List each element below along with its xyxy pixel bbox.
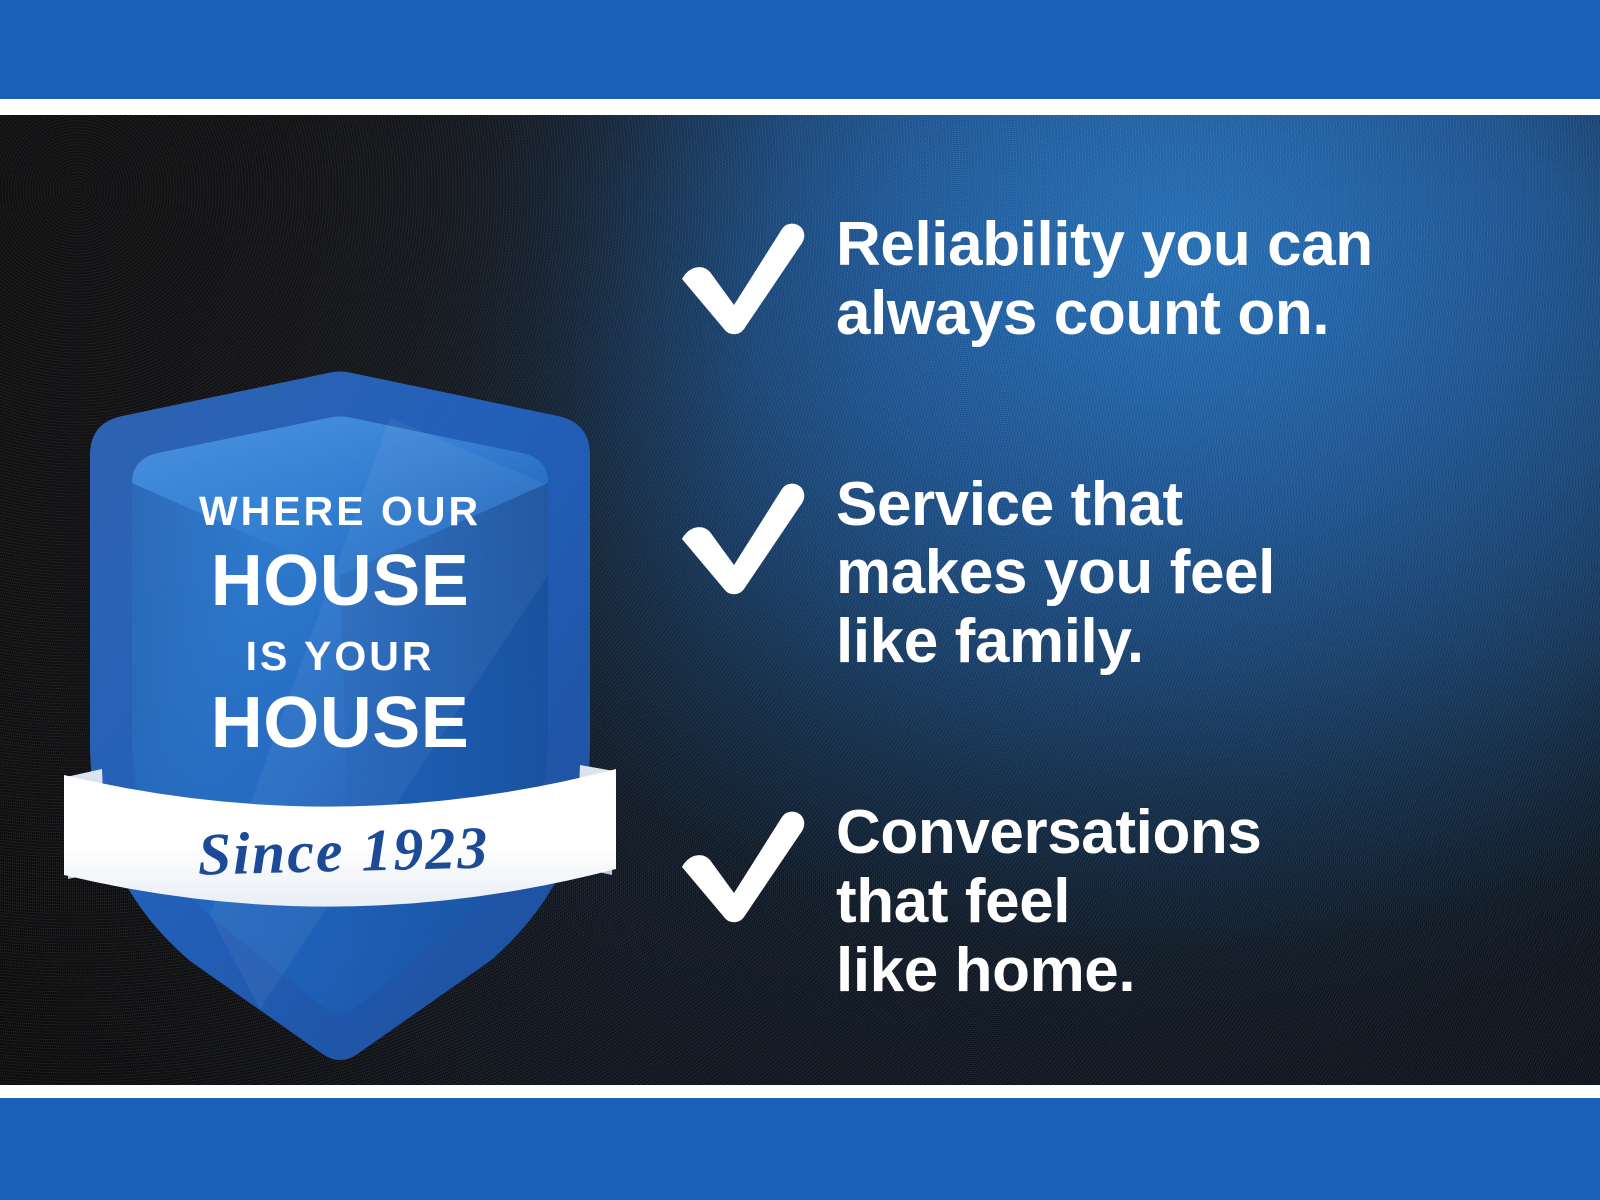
check-icon [678,807,806,925]
badge-line-4: HOUSE [211,683,470,763]
list-item-label: Reliability you can always count on. [678,211,1558,349]
check-icon [678,479,806,597]
badge-line-2: HOUSE [211,541,470,621]
badge-line-3: IS YOUR [246,633,435,679]
list-item: Service that makes you feel like family. [678,471,1558,677]
promo-graphic: WHERE OUR HOUSE IS YOUR HOUSE Since 1923 [0,0,1600,1200]
list-item: Conversations that feel like home. [678,799,1558,1005]
list-item: Reliability you can always count on. [678,211,1558,349]
list-item-label: Conversations that feel like home. [678,799,1558,1005]
top-brand-bar [0,0,1600,99]
main-stage: WHERE OUR HOUSE IS YOUR HOUSE Since 1923 [0,115,1600,1085]
benefits-list: Reliability you can always count on. Ser… [678,211,1558,1006]
shield-badge: WHERE OUR HOUSE IS YOUR HOUSE Since 1923 [60,275,620,1055]
check-icon [678,219,806,337]
bottom-brand-bar [0,1098,1600,1200]
badge-line-1: WHERE OUR [199,488,481,534]
list-item-label: Service that makes you feel like family. [678,471,1558,677]
ribbon-label: Since 1923 [197,814,490,887]
